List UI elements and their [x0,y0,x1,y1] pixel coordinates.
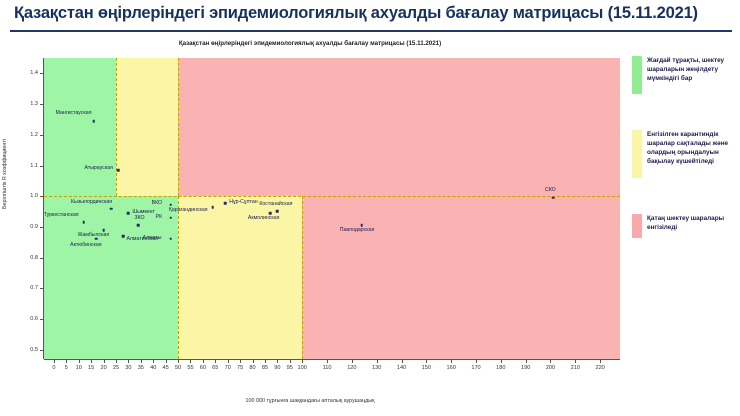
threshold-vline-upper-1 [178,58,179,196]
x-axis-tick-label: 10 [76,365,82,371]
data-point [169,237,172,240]
x-axis-tick [526,360,527,363]
x-axis-tick [141,360,142,363]
zone-lower-green [44,196,178,359]
x-axis-tick [302,360,303,363]
threshold-vline-lower-0 [178,196,179,359]
threshold-vline-lower-1 [302,196,303,359]
x-axis-tick [104,360,105,363]
x-axis-tick [377,360,378,363]
x-axis-tick [451,360,452,363]
x-axis-tick [265,360,266,363]
data-point [269,212,272,215]
legend-swatch-2 [632,214,642,238]
x-axis-tick-label: 15 [88,365,94,371]
x-axis-tick-label: 30 [125,365,131,371]
x-axis-tick-label: 50 [175,365,181,371]
x-axis-tick-label: 200 [546,365,555,371]
x-axis-tick-label: 20 [100,365,106,371]
data-point [552,196,555,199]
data-point-label: Туркестанская [44,212,79,218]
page-title: Қазақстан өңірлеріндегі эпидемиологиялық… [14,4,698,23]
x-axis-tick [426,360,427,363]
x-axis-tick [54,360,55,363]
y-axis-tick-label: 1.2 [22,132,38,138]
x-axis-tick [178,360,179,363]
x-axis-tick-label: 170 [471,365,480,371]
y-axis-title: Берілгіштік R коэффициенті [2,139,8,209]
y-axis-tick [40,196,43,197]
x-axis-tick-label: 180 [496,365,505,371]
data-point [212,206,215,209]
x-axis-line [44,359,620,360]
x-axis-tick-label: 55 [187,365,193,371]
y-axis-tick [40,135,43,136]
data-point [127,212,130,215]
x-axis-tick [215,360,216,363]
x-axis-tick-label: 45 [163,365,169,371]
data-point-label: Жамбылская [78,232,110,238]
zone-upper-green [44,58,116,196]
x-axis-tick-label: 60 [200,365,206,371]
data-point-label: Алматы [143,235,162,241]
data-point [169,216,172,219]
data-point [82,221,85,224]
y-axis-tick [40,258,43,259]
x-axis-tick [327,360,328,363]
y-axis-tick-label: 0.7 [22,285,38,291]
data-point-label: ЗКО [134,215,144,221]
data-point-label: Акмолинская [248,215,280,221]
x-axis-tick [190,360,191,363]
x-axis-tick-label: 90 [274,365,280,371]
x-axis-tick [66,360,67,363]
threshold-vline-upper-0 [116,58,117,196]
data-point-label: Нұр-Сұлтан [229,199,257,205]
x-axis-tick-label: 40 [150,365,156,371]
x-axis-tick-label: 150 [422,365,431,371]
x-axis-tick-label: 95 [287,365,293,371]
x-axis-tick-label: 210 [571,365,580,371]
x-axis-tick [501,360,502,363]
x-axis-tick-label: 0 [52,365,55,371]
x-axis-tick-label: 100 [298,365,307,371]
data-point-label: Атырауская [84,165,112,171]
data-point [122,235,125,238]
data-point-label: СКО [545,187,556,193]
x-axis-tick [228,360,229,363]
legend-label-0: Жағдай тұрақты, шектеу шараларын жеңілде… [647,56,740,94]
x-axis-tick [203,360,204,363]
chart-title: Қазақстан өңірлеріндегі эпидемиологиялық… [0,40,620,47]
x-axis-tick [166,360,167,363]
x-axis-tick-label: 120 [347,365,356,371]
x-axis-title: 100 000 тұрғынға шаққандағы апталық ауру… [0,398,620,404]
data-point [95,237,98,240]
x-axis-tick [240,360,241,363]
data-point [169,204,172,207]
x-axis-tick-label: 80 [249,365,255,371]
data-point-label: Кызылординская [71,199,112,205]
x-axis-tick-label: 140 [397,365,406,371]
x-axis-tick-label: 220 [595,365,604,371]
header-divider [10,30,732,32]
page-header: Қазақстан өңірлеріндегі эпидемиологиялық… [0,0,740,34]
data-point-label: Мангистауская [56,110,92,116]
y-axis-tick-label: 0.9 [22,224,38,230]
legend-swatch-1 [632,130,642,178]
plot-area: МангистаускаяАтыраускаяКызылординскаяШым… [44,58,620,359]
legend-swatch-0 [632,56,642,94]
x-axis-tick-label: 160 [447,365,456,371]
x-axis-tick [476,360,477,363]
x-axis-tick-label: 65 [212,365,218,371]
data-point [360,224,363,227]
y-axis-tick [40,166,43,167]
legend-item-1: Енгізілген карантиндік шаралар сақталады… [632,130,740,178]
data-point-label: ВКО [152,200,162,206]
legend-label-2: Қатаң шектеу шаралары енгізіледі [647,214,740,238]
data-point-label: Костанайская [259,201,292,207]
y-axis-tick [40,319,43,320]
x-axis-tick-label: 5 [65,365,68,371]
x-axis-tick [91,360,92,363]
data-point [137,224,140,227]
x-axis-tick-label: 75 [237,365,243,371]
y-axis-tick-label: 1.0 [22,193,38,199]
x-axis-tick [277,360,278,363]
data-point [102,229,105,232]
x-axis-tick [153,360,154,363]
x-axis-tick [253,360,254,363]
y-axis-tick [40,350,43,351]
y-axis-tick-label: 1.1 [22,163,38,169]
data-point-label: РК [156,214,162,220]
x-axis-tick-label: 35 [138,365,144,371]
x-axis-tick [128,360,129,363]
x-axis-tick [575,360,576,363]
data-point-label: Актюбинская [70,242,101,248]
zone-upper-yellow [116,58,178,196]
data-point [92,120,95,123]
x-axis-tick-label: 110 [323,365,332,371]
y-axis-tick [40,104,43,105]
x-axis-tick-label: 25 [113,365,119,371]
y-axis-tick-label: 1.4 [22,70,38,76]
y-axis-tick-label: 0.5 [22,347,38,353]
data-point-label: Шымкент [132,209,155,215]
x-axis-tick-label: 85 [262,365,268,371]
y-axis-tick-label: 0.8 [22,255,38,261]
zone-lower-red [302,196,620,359]
x-axis-tick [352,360,353,363]
x-axis-tick [116,360,117,363]
x-axis-tick [402,360,403,363]
y-axis-tick-label: 1.3 [22,101,38,107]
data-point-label: Павлодарская [340,227,375,233]
x-axis-tick-label: 190 [521,365,530,371]
x-axis-tick [550,360,551,363]
legend-item-2: Қатаң шектеу шаралары енгізіледі [632,214,740,238]
legend-item-0: Жағдай тұрақты, шектеу шараларын жеңілде… [632,56,740,94]
x-axis-tick [79,360,80,363]
y-axis-tick [40,227,43,228]
y-axis-tick [40,73,43,74]
legend: Жағдай тұрақты, шектеу шараларын жеңілде… [628,34,740,416]
x-axis-tick [600,360,601,363]
x-axis-tick [290,360,291,363]
threshold-hline-0 [44,196,620,197]
zone-lower-yellow [178,196,302,359]
y-axis-line [43,58,44,359]
legend-label-1: Енгізілген карантиндік шаралар сақталады… [647,130,740,178]
data-point [276,210,279,213]
data-point-label: Қарағандинская [169,207,208,213]
y-axis-tick [40,288,43,289]
zone-upper-red [178,58,620,196]
x-axis-tick-label: 130 [372,365,381,371]
data-point [110,207,113,210]
data-point [117,169,120,172]
y-axis-tick-label: 0.6 [22,316,38,322]
x-axis-tick-label: 70 [225,365,231,371]
data-point [224,202,227,205]
